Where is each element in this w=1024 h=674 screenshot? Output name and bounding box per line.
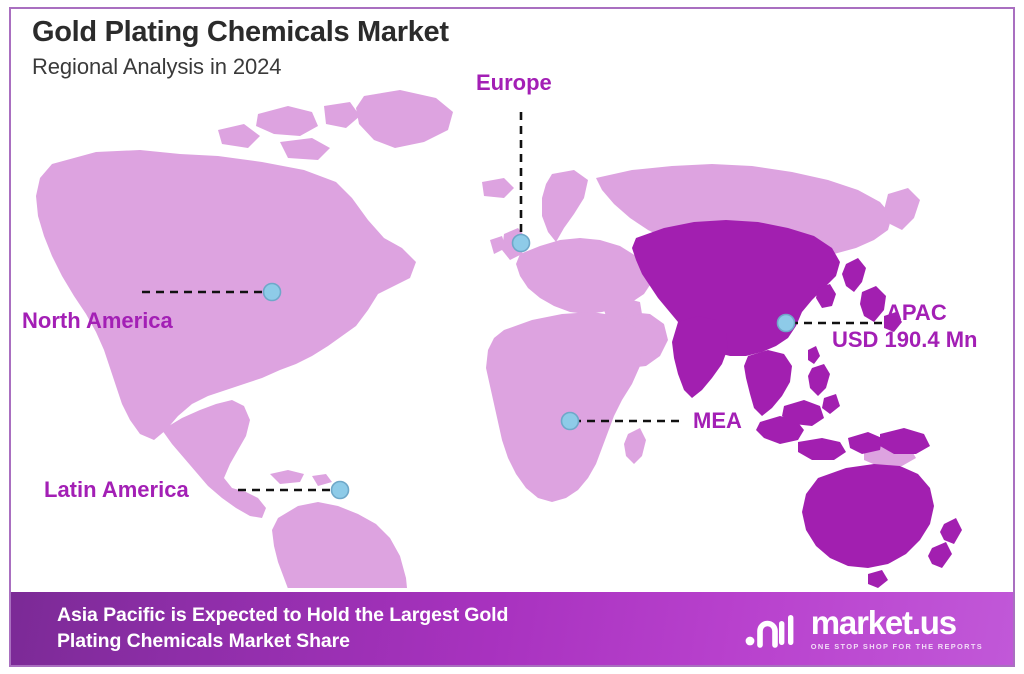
- region-label-europe: Europe: [476, 70, 552, 95]
- brand-tagline: ONE STOP SHOP FOR THE REPORTS: [811, 642, 983, 651]
- page-title: Gold Plating Chemicals Market: [32, 16, 449, 48]
- market-us-logo-icon: [744, 607, 800, 651]
- brand-name: market.us: [811, 606, 956, 639]
- banner-headline-line1: Asia Pacific is Expected to Hold the Lar…: [57, 603, 508, 629]
- region-label-apac: APAC USD 190.4 Mn: [832, 300, 978, 352]
- bottom-banner: Asia Pacific is Expected to Hold the Lar…: [11, 592, 1013, 665]
- banner-headline: Asia Pacific is Expected to Hold the Lar…: [57, 603, 508, 654]
- region-label-mea: MEA: [693, 408, 742, 433]
- map-base-landmasses: [36, 90, 920, 588]
- banner-headline-line2: Plating Chemicals Market Share: [57, 629, 508, 655]
- region-label-apac-name: APAC: [886, 300, 978, 325]
- infographic-root: Gold Plating Chemicals Market Regional A…: [0, 0, 1024, 674]
- brand-logo: market.us ONE STOP SHOP FOR THE REPORTS: [744, 606, 983, 651]
- region-value-apac: USD 190.4 Mn: [832, 327, 978, 352]
- region-label-north-america: North America: [22, 308, 173, 333]
- region-label-latin-america: Latin America: [44, 477, 189, 502]
- page-subtitle: Regional Analysis in 2024: [32, 54, 449, 80]
- brand-logo-text: market.us ONE STOP SHOP FOR THE REPORTS: [811, 606, 983, 651]
- header: Gold Plating Chemicals Market Regional A…: [32, 16, 449, 80]
- map-highlight-apac: [632, 220, 962, 588]
